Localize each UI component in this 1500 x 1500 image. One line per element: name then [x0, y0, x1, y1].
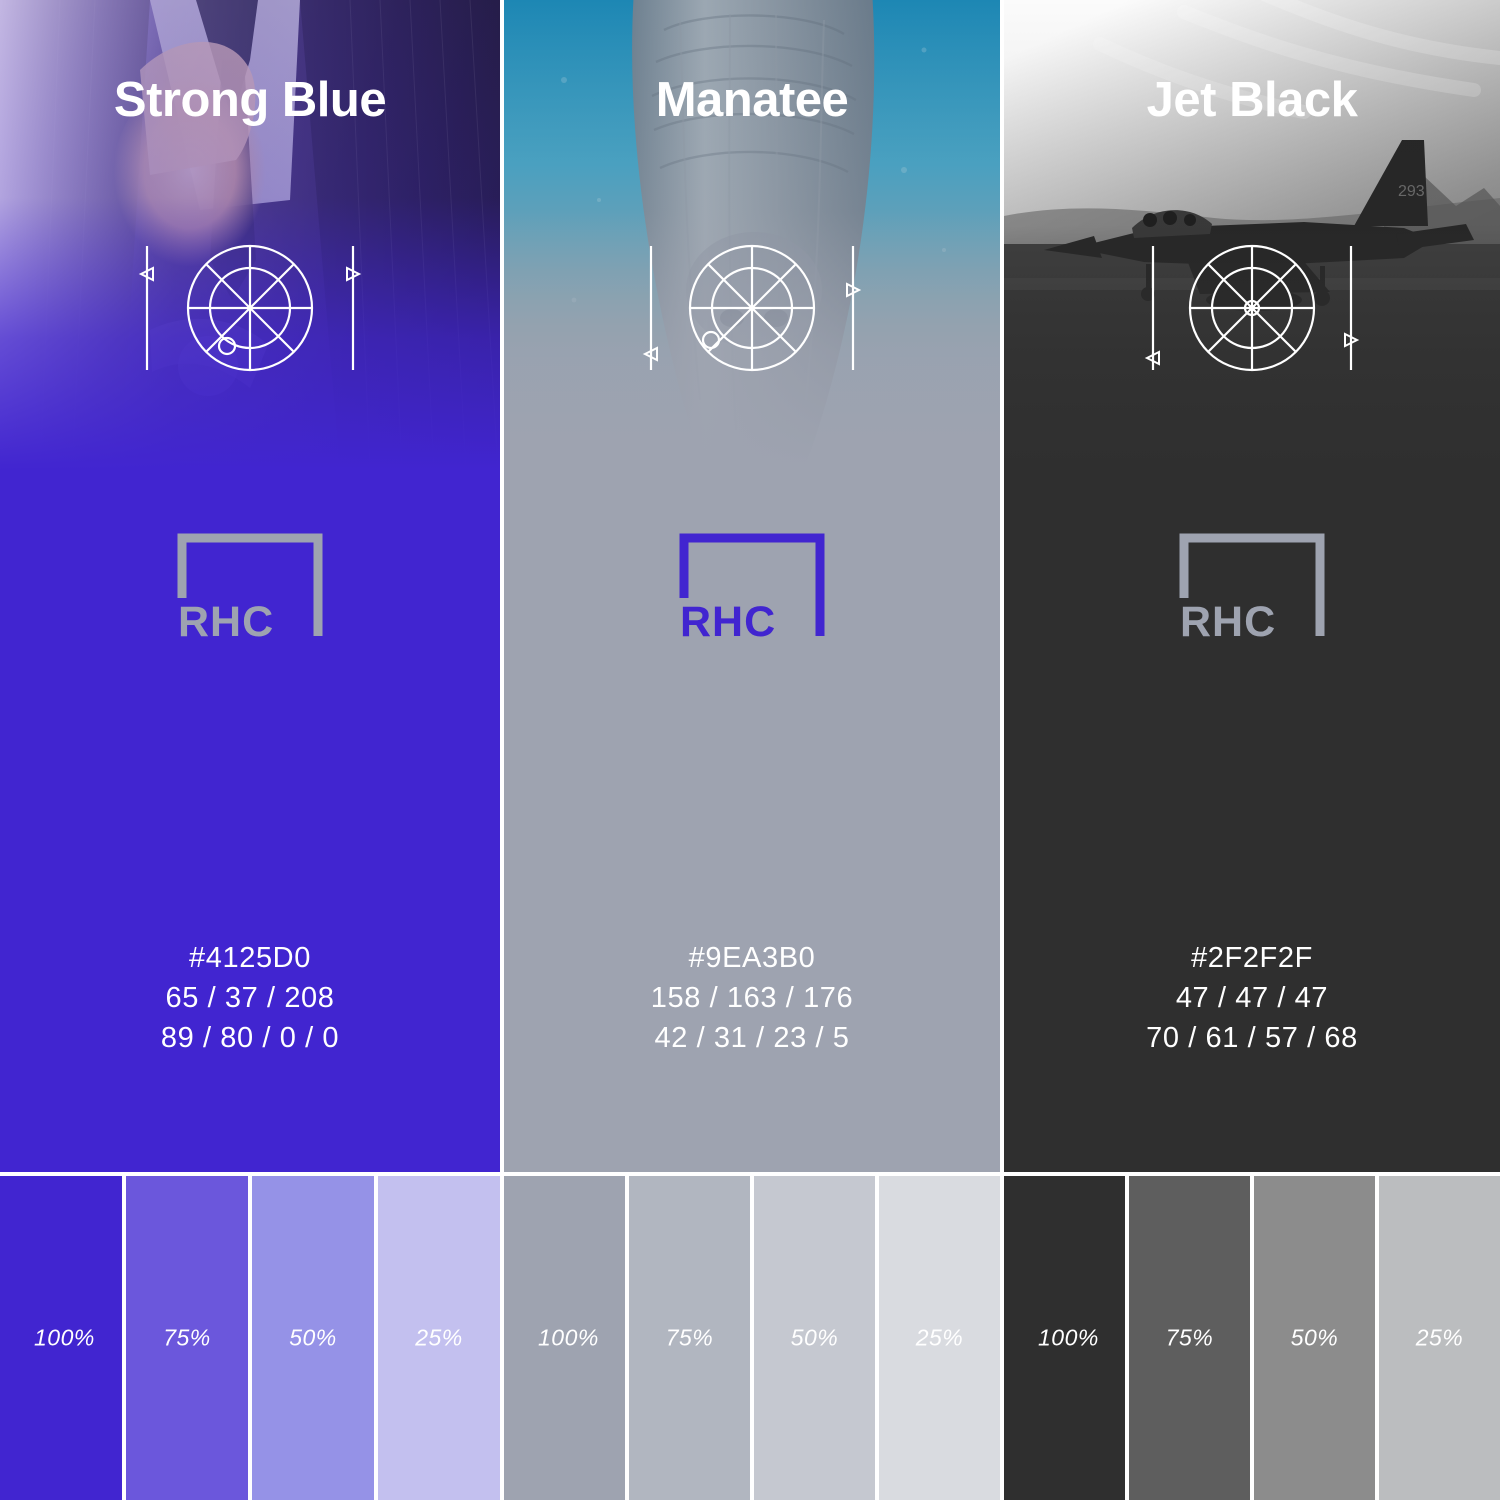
colour-values: #4125D0 65 / 37 / 208 89 / 80 / 0 / 0 — [0, 938, 500, 1058]
tint-swatch[interactable]: 50% — [754, 1176, 875, 1500]
colour-panel: Strong Blue — [0, 0, 500, 1172]
tint-label: 25% — [1379, 1325, 1500, 1352]
tint-strip: 100% 75% 50% 25% — [0, 1176, 500, 1500]
radar-compass-icon — [1137, 228, 1367, 388]
rhc-bracket-logo: RHC — [150, 524, 350, 654]
tint-label: 75% — [1129, 1325, 1250, 1352]
palette-column-strong-blue: Strong Blue — [0, 0, 500, 1500]
tint-label: 75% — [629, 1325, 750, 1352]
cmyk-value: 70 / 61 / 57 / 68 — [1004, 1018, 1500, 1058]
tint-label: 75% — [126, 1325, 248, 1352]
tint-swatch[interactable]: 100% — [504, 1176, 625, 1500]
colour-values: #2F2F2F 47 / 47 / 47 70 / 61 / 57 / 68 — [1004, 938, 1500, 1058]
cmyk-value: 89 / 80 / 0 / 0 — [0, 1018, 500, 1058]
cmyk-value: 42 / 31 / 23 / 5 — [504, 1018, 1000, 1058]
tint-strip: 100% 75% 50% 25% — [504, 1176, 1000, 1500]
tint-swatch[interactable]: 75% — [126, 1176, 248, 1500]
tint-label: 25% — [378, 1325, 500, 1352]
palette-board: Strong Blue — [0, 0, 1500, 1500]
hex-value: #4125D0 — [0, 938, 500, 978]
tint-label: 100% — [504, 1325, 625, 1352]
tint-swatch[interactable]: 50% — [1254, 1176, 1375, 1500]
radar-compass-icon — [135, 228, 365, 388]
tint-swatch[interactable]: 100% — [1004, 1176, 1125, 1500]
tint-strip: 100% 75% 50% 25% — [1004, 1176, 1500, 1500]
hex-value: #9EA3B0 — [504, 938, 1000, 978]
tint-label: 50% — [252, 1325, 374, 1352]
rgb-value: 65 / 37 / 208 — [0, 978, 500, 1018]
column-title: Manatee — [504, 74, 1000, 128]
tint-swatch[interactable]: 25% — [1379, 1176, 1500, 1500]
palette-column-jet-black: 293 Jet Black — [1000, 0, 1500, 1500]
palette-column-manatee: Manatee — [500, 0, 1000, 1500]
colour-values: #9EA3B0 158 / 163 / 176 42 / 31 / 23 / 5 — [504, 938, 1000, 1058]
rhc-logo-text: RHC — [680, 598, 776, 646]
tint-label: 100% — [1004, 1325, 1125, 1352]
column-title: Jet Black — [1004, 74, 1500, 128]
rgb-value: 158 / 163 / 176 — [504, 978, 1000, 1018]
tint-label: 100% — [0, 1325, 122, 1352]
hex-value: #2F2F2F — [1004, 938, 1500, 978]
tint-swatch[interactable]: 25% — [378, 1176, 500, 1500]
tint-label: 50% — [754, 1325, 875, 1352]
colour-panel: Manatee — [504, 0, 1000, 1172]
radar-compass-icon — [637, 228, 867, 388]
colour-panel: 293 Jet Black — [1004, 0, 1500, 1172]
tint-swatch[interactable]: 75% — [1129, 1176, 1250, 1500]
column-title: Strong Blue — [0, 74, 500, 128]
rhc-bracket-logo: RHC — [1152, 524, 1352, 654]
rhc-logo-text: RHC — [1180, 598, 1276, 646]
tint-label: 50% — [1254, 1325, 1375, 1352]
tint-swatch[interactable]: 25% — [879, 1176, 1000, 1500]
tint-label: 25% — [879, 1325, 1000, 1352]
tint-swatch[interactable]: 75% — [629, 1176, 750, 1500]
tint-swatch[interactable]: 50% — [252, 1176, 374, 1500]
rhc-logo-text: RHC — [178, 598, 274, 646]
tint-swatch[interactable]: 100% — [0, 1176, 122, 1500]
rgb-value: 47 / 47 / 47 — [1004, 978, 1500, 1018]
rhc-bracket-logo: RHC — [652, 524, 852, 654]
